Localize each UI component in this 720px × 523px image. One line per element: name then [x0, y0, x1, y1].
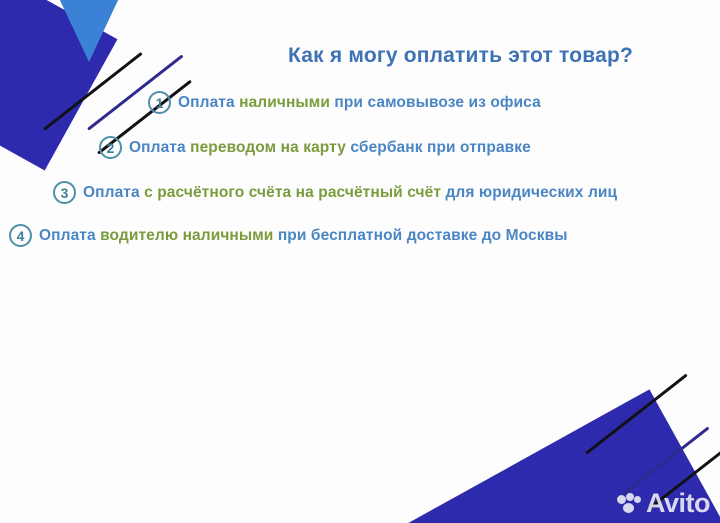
payment-option-item: 1Оплата наличными при самовывозе из офис… — [148, 91, 541, 114]
promo-image-canvas: Как я могу оплатить этот товар? 1Оплата … — [0, 0, 720, 523]
payment-option-label: Оплата переводом на карту сбербанк при о… — [129, 139, 531, 157]
payment-option-label: Оплата с расчётного счёта на расчётный с… — [83, 184, 617, 202]
payment-option-text-segment: переводом на карту — [190, 139, 350, 156]
avito-watermark: Avito — [617, 490, 710, 517]
payment-option-text-segment: при бесплатной доставке до Москвы — [278, 227, 568, 244]
payment-option-item: 3Оплата с расчётного счёта на расчётный … — [53, 181, 617, 204]
payment-option-text-segment: наличными — [239, 94, 334, 111]
payment-option-label: Оплата водителю наличными при бесплатной… — [39, 227, 568, 245]
payment-option-number-badge: 1 — [148, 91, 171, 114]
payment-option-number-badge: 4 — [9, 224, 32, 247]
payment-option-text-segment: при самовывозе из офиса — [334, 94, 540, 111]
page-title: Как я могу оплатить этот товар? — [288, 44, 633, 68]
payment-option-text-segment: Оплата — [83, 184, 144, 201]
light-blue-triangle-icon — [58, 0, 120, 62]
avito-wordmark: Avito — [646, 490, 710, 517]
payment-option-text-segment: Оплата — [129, 139, 190, 156]
payment-option-label: Оплата наличными при самовывозе из офиса — [178, 94, 541, 112]
payment-option-item: 2Оплата переводом на карту сбербанк при … — [99, 136, 531, 159]
payment-option-text-segment: с расчётного счёта на расчётный счёт — [144, 184, 445, 201]
payment-option-text-segment: сбербанк при отправке — [350, 139, 531, 156]
payment-option-text-segment: для юридических лиц — [445, 184, 617, 201]
payment-option-text-segment: Оплата — [39, 227, 100, 244]
payment-option-text-segment: водителю наличными — [100, 227, 278, 244]
payment-option-number-badge: 2 — [99, 136, 122, 159]
payment-option-number-badge: 3 — [53, 181, 76, 204]
payment-option-item: 4Оплата водителю наличными при бесплатно… — [9, 224, 568, 247]
diagonal-line-bottom-right-1 — [585, 374, 688, 455]
diagonal-line-top-left-1 — [43, 52, 143, 131]
payment-option-text-segment: Оплата — [178, 94, 239, 111]
avito-paw-logo-icon — [617, 493, 643, 515]
